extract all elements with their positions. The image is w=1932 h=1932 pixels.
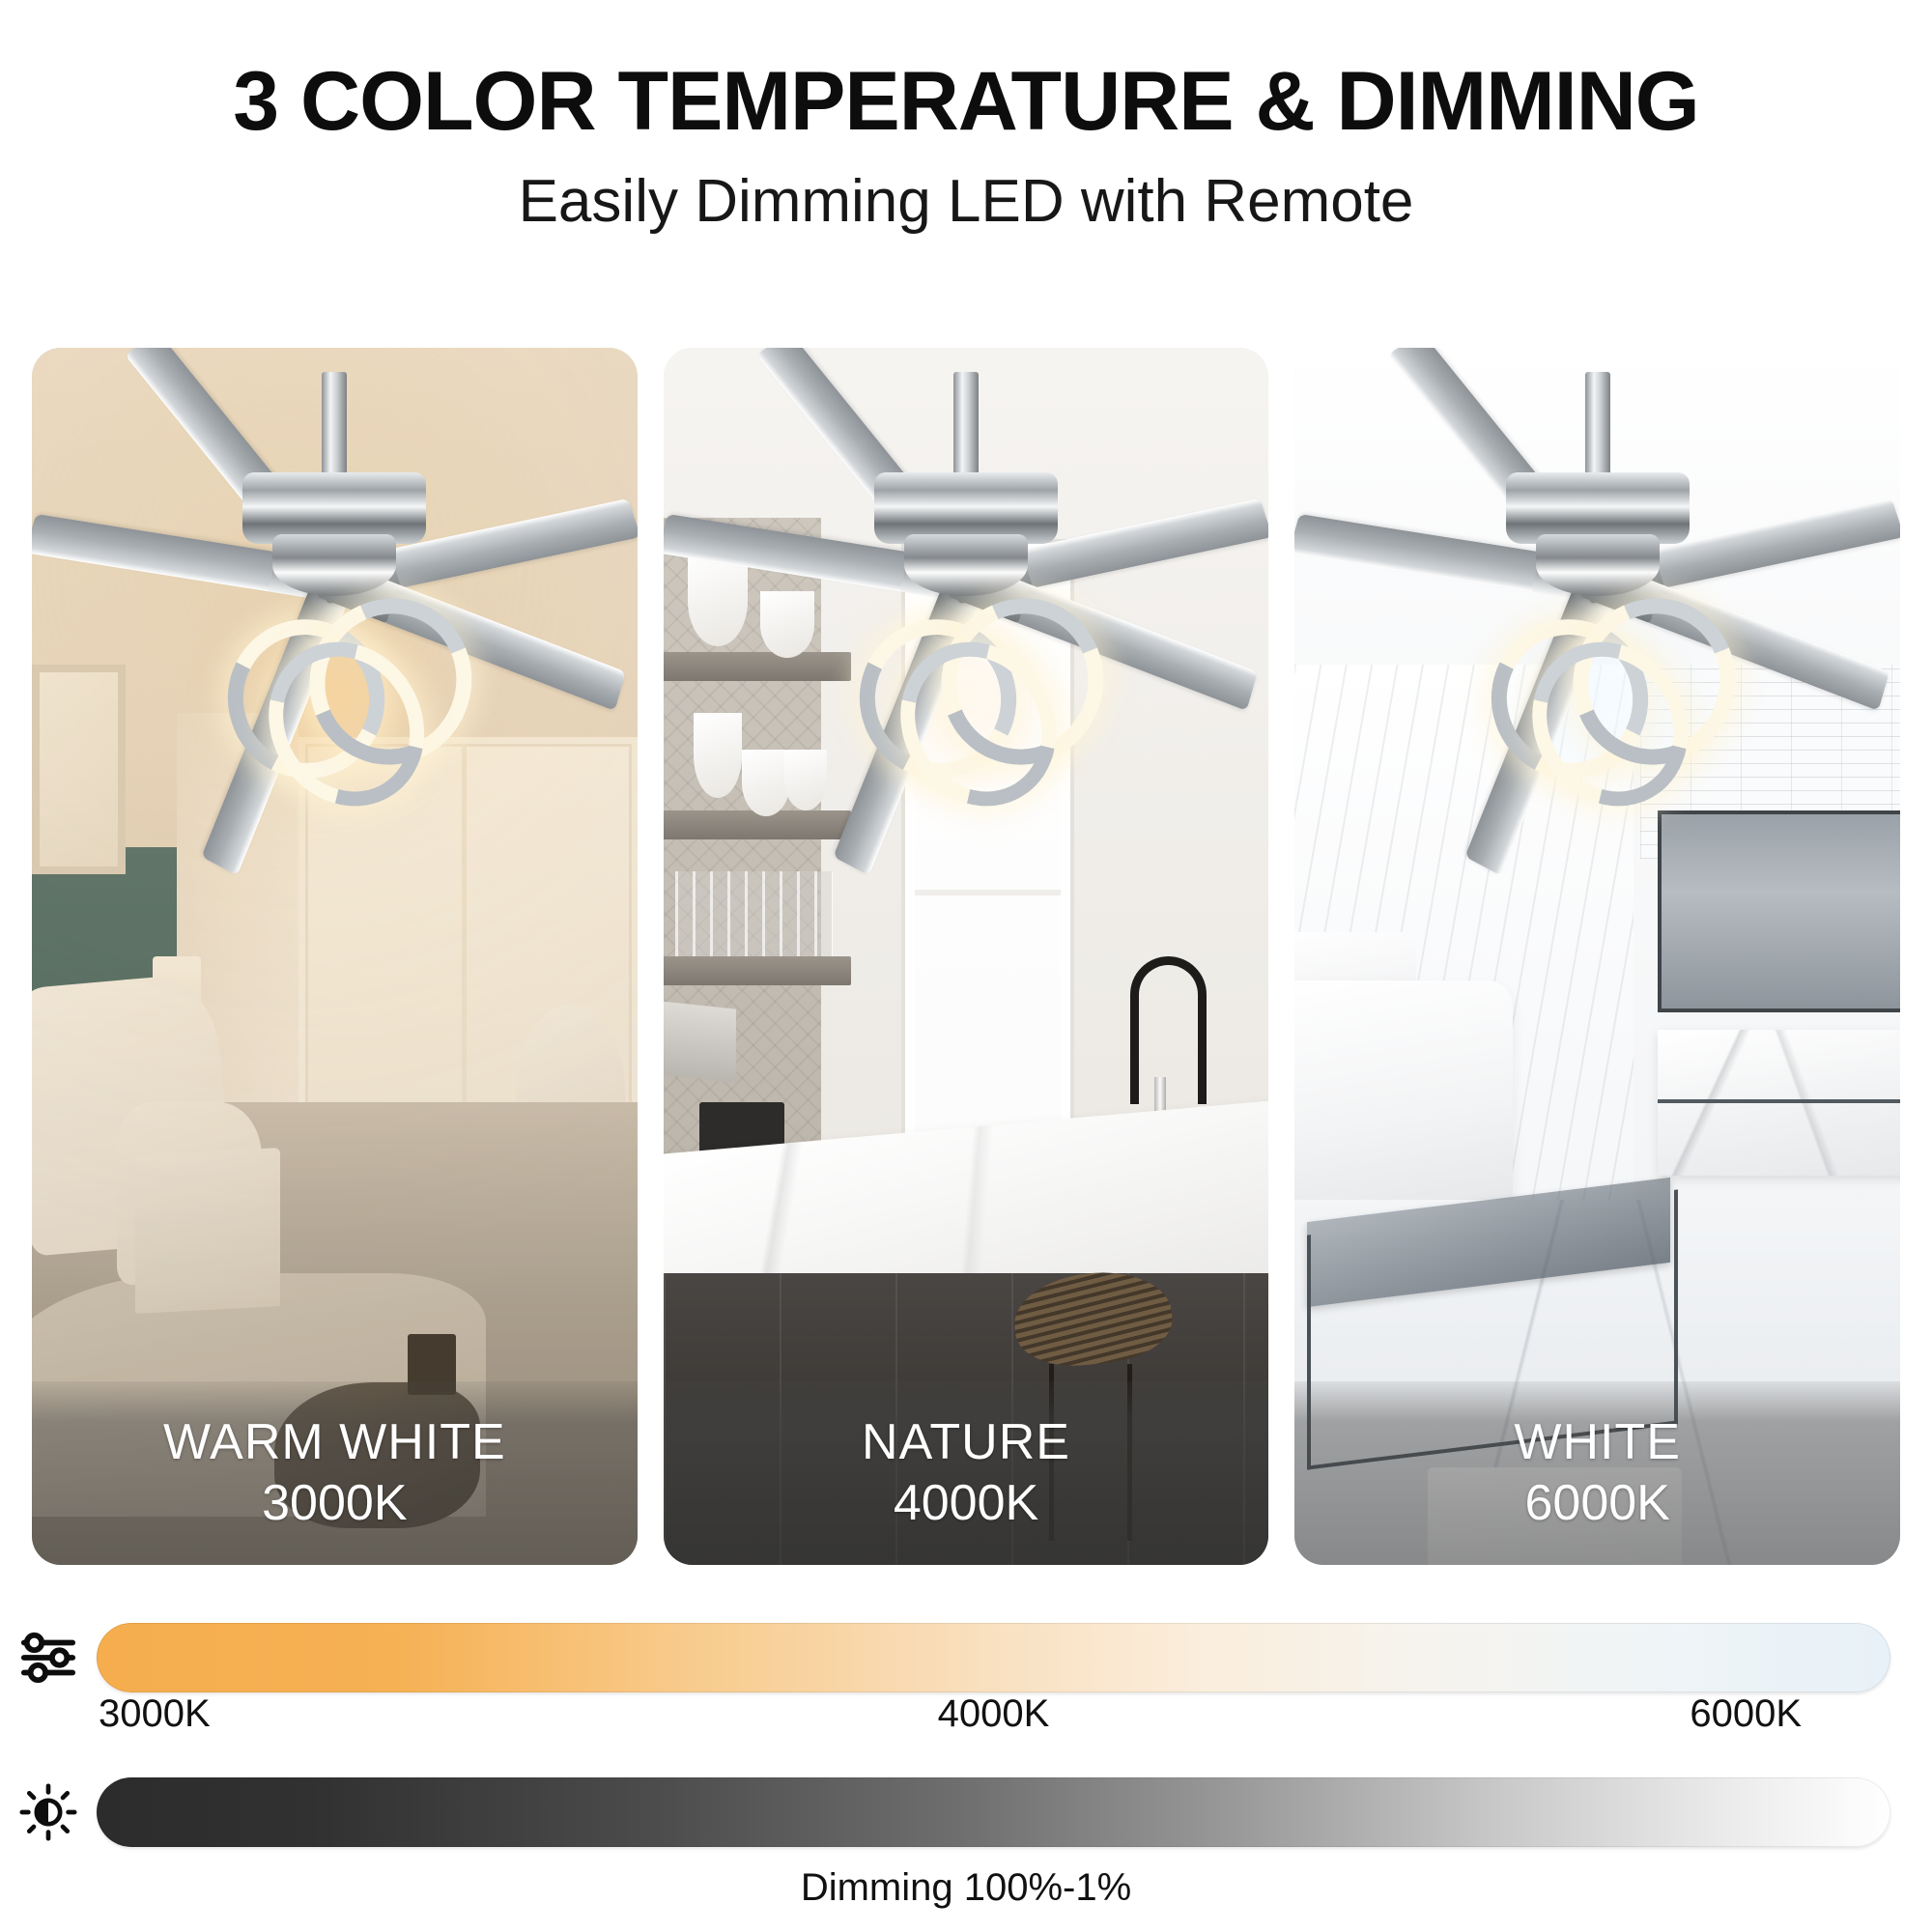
header: 3 COLOR TEMPERATURE & DIMMING Easily Dim… <box>0 0 1932 232</box>
faucet-hose <box>1130 956 1207 1104</box>
dimming-slider-row <box>0 1777 1932 1847</box>
temperature-tick: 3000K <box>99 1692 211 1736</box>
ceiling <box>1294 348 1900 689</box>
temperature-slider-row <box>0 1623 1932 1692</box>
temperature-tick: 6000K <box>1690 1692 1802 1736</box>
brightness-icon <box>0 1783 97 1841</box>
slider-spacer <box>0 1750 1932 1777</box>
panel-caption: WHITE 6000K <box>1294 1381 1900 1565</box>
panel-label: WARM WHITE <box>163 1416 506 1469</box>
ceramic-bowl <box>742 750 790 816</box>
panel-label: WHITE <box>1514 1416 1681 1469</box>
panel-label: NATURE <box>862 1416 1070 1469</box>
panel-kelvin: 4000K <box>894 1477 1038 1530</box>
panel-caption: NATURE 4000K <box>664 1381 1269 1565</box>
page-subtitle: Easily Dimming LED with Remote <box>0 172 1932 232</box>
panel-kelvin: 6000K <box>1524 1477 1669 1530</box>
temperature-tick: 4000K <box>938 1692 1050 1736</box>
open-shelf <box>664 652 851 681</box>
slider-section: 3000K 4000K 6000K D <box>0 1623 1932 1910</box>
ceramic-bowl <box>784 750 827 810</box>
panel-white[interactable]: WHITE 6000K <box>1294 348 1900 1565</box>
scene-panels: WARM WHITE 3000K <box>32 348 1900 1565</box>
open-shelf <box>664 810 851 839</box>
color-temperature-bar[interactable] <box>97 1623 1890 1692</box>
ceramic-bowl <box>694 713 742 798</box>
range-hood <box>664 1001 736 1083</box>
dimming-label: Dimming 100%-1% <box>0 1866 1932 1910</box>
wall-mounted-tv <box>1658 810 1900 1013</box>
drawer-seam <box>1658 1099 1900 1103</box>
page-title: 3 COLOR TEMPERATURE & DIMMING <box>0 60 1932 143</box>
sliders-icon <box>0 1628 97 1688</box>
panel-caption: WARM WHITE 3000K <box>32 1381 638 1565</box>
panel-nature[interactable]: NATURE 4000K <box>664 348 1269 1565</box>
panel-warm-white[interactable]: WARM WHITE 3000K <box>32 348 638 1565</box>
wine-glass-rack <box>675 871 833 956</box>
temperature-tick-labels: 3000K 4000K 6000K <box>97 1692 1890 1750</box>
stool-seat <box>1010 1264 1177 1372</box>
white-sofa <box>1294 980 1513 1224</box>
open-shelf <box>664 956 851 985</box>
dimming-bar[interactable] <box>97 1777 1890 1847</box>
panel-kelvin: 3000K <box>262 1477 407 1530</box>
marble-tv-console <box>1658 1030 1900 1176</box>
ceramic-bowl <box>688 554 749 646</box>
